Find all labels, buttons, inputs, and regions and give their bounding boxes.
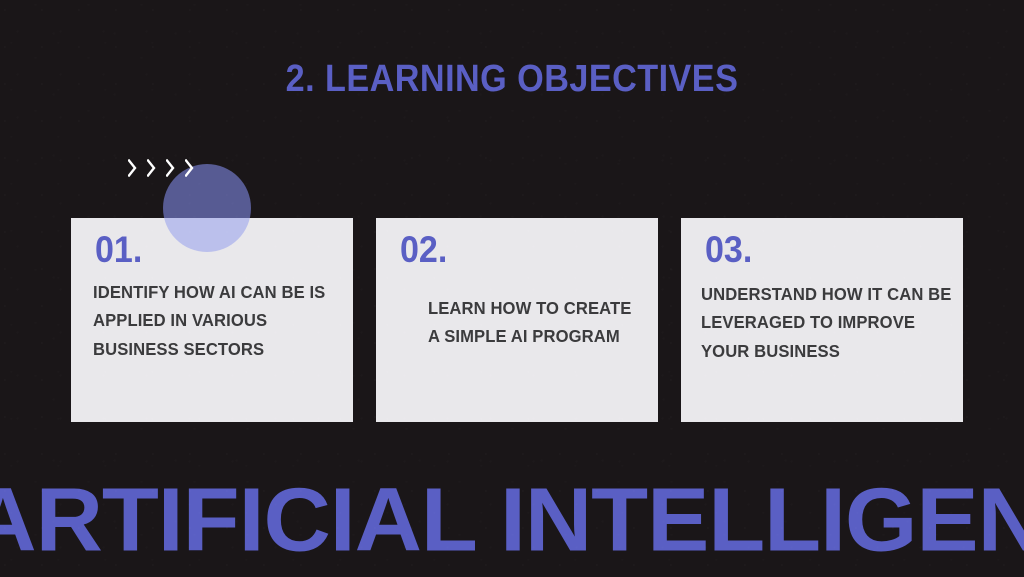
chevron-right-icon (166, 159, 175, 177)
objective-card: 01. IDENTIFY HOW AI CAN BE IS APPLIED IN… (71, 218, 353, 422)
objectives-card-row: 01. IDENTIFY HOW AI CAN BE IS APPLIED IN… (71, 218, 963, 422)
slide-headline: ARTIFICIAL INTELLIGENCE (AI) (0, 475, 1024, 565)
chevron-right-icon (147, 159, 156, 177)
decorative-circle-overlap (163, 218, 251, 252)
section-title: 2. LEARNING OBJECTIVES (51, 60, 973, 98)
objective-number: 01. (95, 231, 142, 268)
objective-card: 02. LEARN HOW TO CREATE A SIMPLE AI PROG… (376, 218, 658, 422)
objective-number: 03. (705, 231, 752, 268)
presentation-slide: 2. LEARNING OBJECTIVES 01. IDENTIFY HOW … (0, 0, 1024, 577)
objective-text: UNDERSTAND HOW IT CAN BE LEVERAGED TO IM… (701, 280, 953, 365)
objective-text: IDENTIFY HOW AI CAN BE IS APPLIED IN VAR… (93, 278, 353, 363)
objective-card: 03. UNDERSTAND HOW IT CAN BE LEVERAGED T… (681, 218, 963, 422)
objective-text: LEARN HOW TO CREATE A SIMPLE AI PROGRAM (428, 294, 647, 351)
chevron-decoration-group (128, 159, 194, 177)
chevron-right-icon (128, 159, 137, 177)
objective-number: 02. (400, 231, 447, 268)
chevron-right-icon (185, 159, 194, 177)
